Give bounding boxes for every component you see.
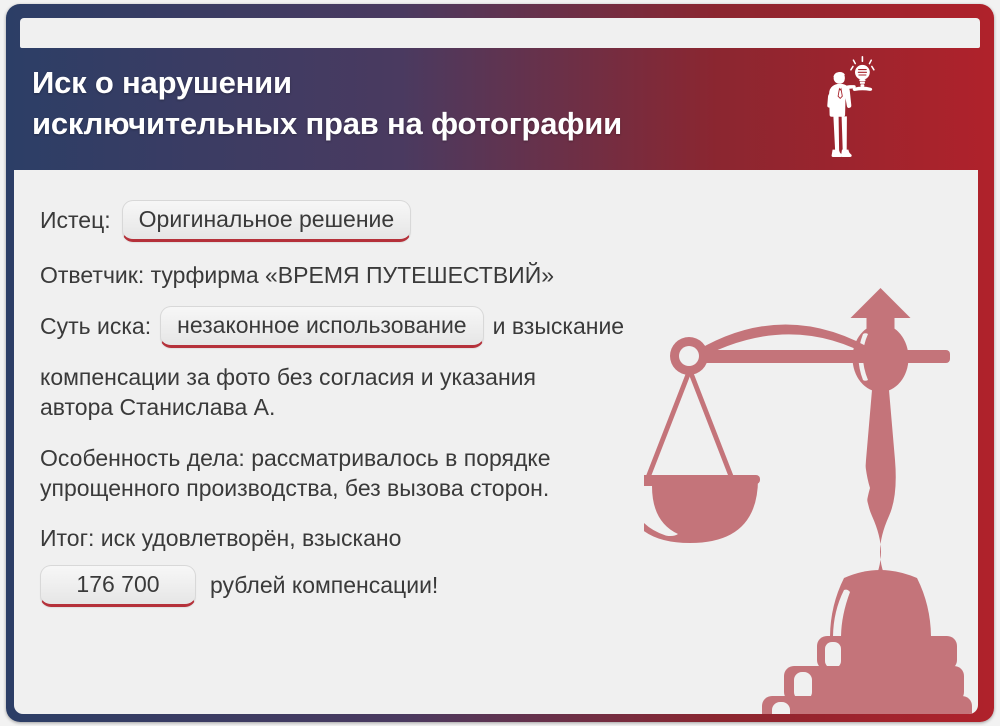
page-title: Иск о нарушении исключительных прав на ф… (32, 62, 732, 144)
card-header: Иск о нарушении исключительных прав на ф… (6, 48, 994, 170)
case-feature-paragraph: Особенность дела: рассматривалось в поря… (40, 444, 740, 504)
plaintiff-label: Истец: (40, 206, 111, 236)
claim-row: Суть иска: незаконное использование и вз… (40, 306, 800, 348)
defendant-line: Ответчик: турфирма «ВРЕМЯ ПУТЕШЕСТВИЙ» (40, 261, 554, 291)
amount-tail-text: рублей компенсации! (210, 571, 438, 601)
plaintiff-value-chip[interactable]: Оригинальное решение (122, 200, 412, 242)
infographic-card: Иск о нарушении исключительных прав на ф… (6, 4, 994, 722)
case-details: Истец: Оригинальное решение Ответчик: ту… (40, 200, 800, 607)
plaintiff-row: Истец: Оригинальное решение (40, 200, 800, 242)
claim-paragraph: компенсации за фото без согласия и указа… (40, 363, 740, 423)
amount-value-chip[interactable]: 176 700 (40, 565, 196, 607)
businessman-with-lightbulb-icon (816, 54, 886, 166)
claim-label: Суть иска: (40, 312, 151, 342)
claim-tail-text: и взыскание (493, 312, 624, 342)
result-line: Итог: иск удовлетворён, взыскано (40, 524, 800, 554)
card-body: Истец: Оригинальное решение Ответчик: ту… (14, 170, 978, 714)
claim-value-chip[interactable]: незаконное использование (160, 306, 483, 348)
defendant-row: Ответчик: турфирма «ВРЕМЯ ПУТЕШЕСТВИЙ» (40, 261, 800, 291)
header-top-strip (20, 18, 980, 48)
amount-row: 176 700 рублей компенсации! (40, 565, 800, 607)
